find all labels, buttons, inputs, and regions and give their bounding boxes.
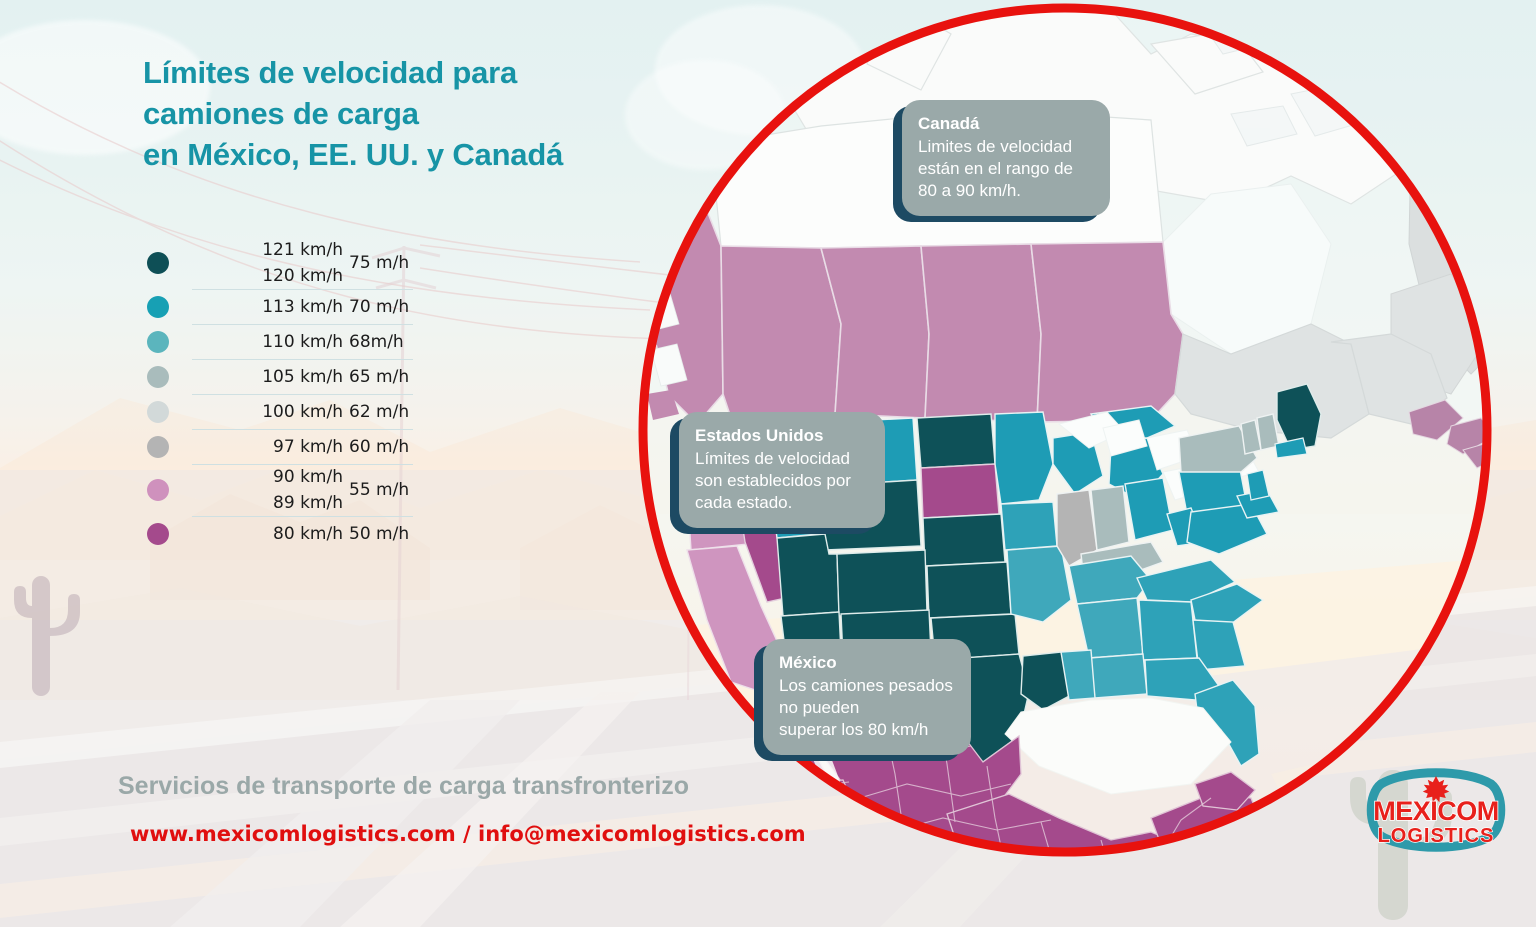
speed-legend: 121 km/h 120 km/h 75 m/h 113 km/h 70 m/h… <box>143 237 413 551</box>
legend-mph: 60 m/h <box>349 437 413 457</box>
contact-url[interactable]: www.mexicomlogistics.com / info@mexicoml… <box>130 822 806 846</box>
legend-kmh: 80 km/h <box>192 524 343 544</box>
callout-line-1: Limites de velocidad <box>918 136 1094 158</box>
callout-line-3: superar los 80 km/h <box>779 719 955 741</box>
callout-line-2: no pueden <box>779 697 955 719</box>
callout-line-3: 80 a 90 km/h. <box>918 180 1094 202</box>
legend-kmh: 90 km/h 89 km/h <box>192 464 343 517</box>
legend-kmh-line1: 121 km/h <box>192 237 343 263</box>
callout-body: Canadá Limites de velocidad están en el … <box>902 100 1110 216</box>
legend-swatch <box>147 401 169 423</box>
logo-wordmark-bottom: LOGISTICS <box>1378 825 1495 847</box>
legend-row[interactable]: 121 km/h 120 km/h 75 m/h <box>143 237 413 289</box>
legend-kmh: 100 km/h <box>192 402 343 422</box>
callout-line-1: Los camiones pesados <box>779 675 955 697</box>
legend-mph: 68m/h <box>349 332 413 352</box>
legend-divider <box>192 516 413 517</box>
legend-swatch <box>147 436 169 458</box>
legend-divider <box>192 359 413 360</box>
legend-row[interactable]: 110 km/h 68m/h <box>143 324 413 359</box>
logo-wordmark-top: MEXICOM <box>1373 796 1499 826</box>
legend-divider <box>192 324 413 325</box>
legend-divider <box>192 289 413 290</box>
callout-body: Estados Unidos Límites de velocidad son … <box>679 412 885 528</box>
legend-row[interactable]: 113 km/h 70 m/h <box>143 289 413 324</box>
legend-swatch <box>147 252 169 274</box>
legend-row[interactable]: 90 km/h 89 km/h 55 m/h <box>143 464 413 516</box>
legend-swatch <box>147 366 169 388</box>
legend-mph: 55 m/h <box>349 480 413 500</box>
legend-swatch <box>147 331 169 353</box>
legend-row[interactable]: 105 km/h 65 m/h <box>143 359 413 394</box>
callout-line-2: son establecidos por <box>695 470 869 492</box>
legend-kmh: 121 km/h 120 km/h <box>192 237 343 290</box>
legend-kmh: 97 km/h <box>192 437 343 457</box>
callout-title: Canadá <box>918 113 1094 136</box>
callout-line-2: están en el rango de <box>918 158 1094 180</box>
legend-row[interactable]: 80 km/h 50 m/h <box>143 516 413 551</box>
legend-divider <box>192 429 413 430</box>
legend-row[interactable]: 97 km/h 60 m/h <box>143 429 413 464</box>
infographic-canvas: Límites de velocidad para camiones de ca… <box>0 0 1536 927</box>
legend-swatch <box>147 479 169 501</box>
legend-kmh: 105 km/h <box>192 367 343 387</box>
legend-kmh: 110 km/h <box>192 332 343 352</box>
callout-line-1: Límites de velocidad <box>695 448 869 470</box>
legend-mph: 70 m/h <box>349 297 413 317</box>
callout-title: México <box>779 652 955 675</box>
callout-body: México Los camiones pesados no pueden su… <box>763 639 971 755</box>
legend-mph: 62 m/h <box>349 402 413 422</box>
legend-swatch <box>147 296 169 318</box>
legend-row[interactable]: 100 km/h 62 m/h <box>143 394 413 429</box>
callout-line-3: cada estado. <box>695 492 869 514</box>
callout-canada[interactable]: Canadá Limites de velocidad están en el … <box>902 100 1110 216</box>
callout-title: Estados Unidos <box>695 425 869 448</box>
callout-estados-unidos[interactable]: Estados Unidos Límites de velocidad son … <box>679 412 885 528</box>
legend-kmh-line1: 90 km/h <box>192 464 343 490</box>
map-region: Canadá Limites de velocidad están en el … <box>591 0 1536 869</box>
legend-divider <box>192 394 413 395</box>
legend-mph: 75 m/h <box>349 253 413 273</box>
legend-kmh-line2: 89 km/h <box>192 490 343 516</box>
legend-kmh: 113 km/h <box>192 297 343 317</box>
mexicom-logistics-logo[interactable]: MEXICOM LOGISTICS <box>1348 762 1524 858</box>
legend-swatch <box>147 523 169 545</box>
callout-mexico[interactable]: México Los camiones pesados no pueden su… <box>763 639 971 755</box>
legend-mph: 50 m/h <box>349 524 413 544</box>
tagline: Servicios de transporte de carga transfr… <box>118 772 689 801</box>
legend-mph: 65 m/h <box>349 367 413 387</box>
legend-kmh-line2: 120 km/h <box>192 263 343 289</box>
